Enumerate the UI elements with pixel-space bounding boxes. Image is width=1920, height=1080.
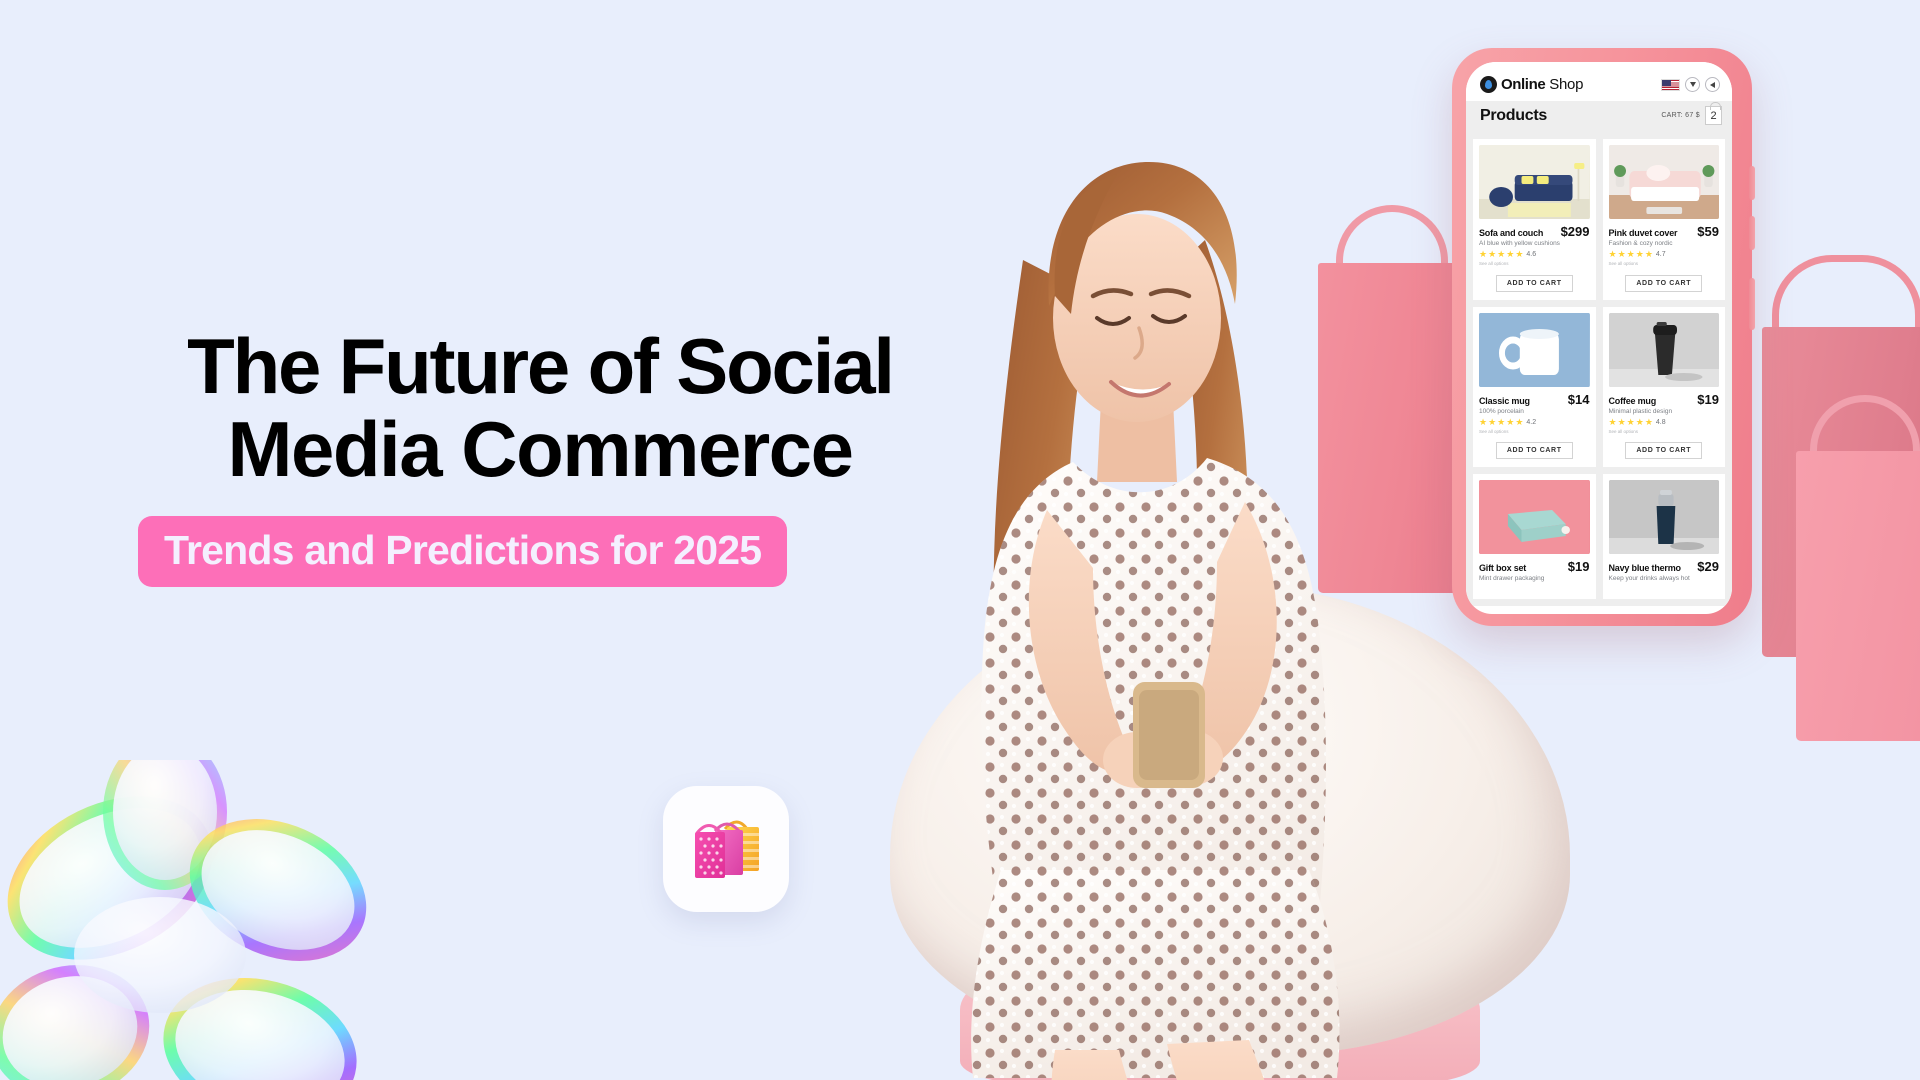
rating-value: 4.7 <box>1656 251 1666 258</box>
star-icon: ★ <box>1497 418 1505 427</box>
volume-up-button[interactable] <box>1749 166 1755 200</box>
product-desc: Fashion & cozy nordic <box>1609 240 1720 247</box>
product-rating: ★ ★ ★ ★ ★ 4.6 <box>1479 250 1590 259</box>
product-card[interactable]: Navy blue thermo $29 Keep your drinks al… <box>1603 474 1726 599</box>
product-image-sofa <box>1479 145 1590 219</box>
product-sublink[interactable]: See all options <box>1609 429 1720 434</box>
cart-total-label: CART: 67 $ <box>1661 112 1700 119</box>
add-to-cart-button[interactable]: ADD TO CART <box>1625 442 1702 459</box>
star-icon: ★ <box>1515 250 1523 259</box>
product-desc: Mint drawer packaging <box>1479 575 1590 582</box>
product-desc: Keep your drinks always hot <box>1609 575 1720 582</box>
product-image-mug <box>1479 313 1590 387</box>
brand-mark-icon <box>1480 76 1497 93</box>
star-icon: ★ <box>1609 418 1617 427</box>
star-icon: ★ <box>1609 250 1617 259</box>
star-icon: ★ <box>1636 250 1644 259</box>
product-price: $14 <box>1568 392 1590 407</box>
star-icon: ★ <box>1488 418 1496 427</box>
shopping-bags-app-icon[interactable] <box>663 786 789 912</box>
star-icon: ★ <box>1479 418 1487 427</box>
product-card[interactable]: Pink duvet cover $59 Fashion & cozy nord… <box>1603 139 1726 300</box>
phone-screen: Online Shop Products CART: 67 $ 2 <box>1466 62 1732 614</box>
phone-mockup: Online Shop Products CART: 67 $ 2 <box>1452 48 1752 626</box>
product-desc: AI blue with yellow cushions <box>1479 240 1590 247</box>
add-to-cart-button[interactable]: ADD TO CART <box>1496 442 1573 459</box>
product-desc: 100% porcelain <box>1479 408 1590 415</box>
subtitle-banner: Trends and Predictions for 2025 <box>138 516 787 587</box>
header-controls <box>1661 77 1720 92</box>
product-price: $59 <box>1697 224 1719 239</box>
power-button[interactable] <box>1749 278 1755 330</box>
product-image-gift-box <box>1479 480 1590 554</box>
product-desc: Minimal plastic design <box>1609 408 1720 415</box>
product-price: $299 <box>1561 224 1590 239</box>
product-sublink[interactable]: See all options <box>1479 261 1590 266</box>
star-icon: ★ <box>1645 250 1653 259</box>
product-sublink[interactable]: See all options <box>1479 429 1590 434</box>
product-price: $19 <box>1697 392 1719 407</box>
product-image-thermo <box>1609 480 1720 554</box>
product-card[interactable]: Sofa and couch $299 AI blue with yellow … <box>1473 139 1596 300</box>
droplet-icon <box>1485 80 1492 89</box>
rating-value: 4.2 <box>1526 419 1536 426</box>
product-name: Sofa and couch <box>1479 228 1543 238</box>
app-header: Online Shop <box>1466 62 1732 101</box>
star-icon: ★ <box>1618 418 1626 427</box>
product-card[interactable]: Gift box set $19 Mint drawer packaging <box>1473 474 1596 599</box>
headline-line-1: The Future of Social <box>130 325 950 408</box>
section-title: Products <box>1480 107 1547 125</box>
hero-text-block: The Future of Social Media Commerce Tren… <box>130 325 950 587</box>
brand-logo[interactable]: Online Shop <box>1480 76 1583 93</box>
star-icon: ★ <box>1645 418 1653 427</box>
cart-area[interactable]: CART: 67 $ 2 <box>1661 106 1722 125</box>
star-icon: ★ <box>1627 418 1635 427</box>
product-image-duvet <box>1609 145 1720 219</box>
product-name: Coffee mug <box>1609 396 1657 406</box>
star-icon: ★ <box>1497 250 1505 259</box>
star-icon: ★ <box>1506 418 1514 427</box>
product-rating: ★ ★ ★ ★ ★ 4.2 <box>1479 418 1590 427</box>
star-icon: ★ <box>1506 250 1514 259</box>
star-icon: ★ <box>1515 418 1523 427</box>
product-name: Navy blue thermo <box>1609 563 1681 573</box>
flag-canton <box>1662 80 1671 87</box>
chevron-down-icon[interactable] <box>1685 77 1700 92</box>
add-to-cart-button[interactable]: ADD TO CART <box>1496 275 1573 292</box>
brand-name-bold: Online <box>1501 76 1545 93</box>
star-icon: ★ <box>1618 250 1626 259</box>
product-name: Classic mug <box>1479 396 1530 406</box>
product-name: Pink duvet cover <box>1609 228 1678 238</box>
star-icon: ★ <box>1636 418 1644 427</box>
volume-down-button[interactable] <box>1749 216 1755 250</box>
us-flag-icon[interactable] <box>1661 79 1680 91</box>
product-card[interactable]: Coffee mug $19 Minimal plastic design ★ … <box>1603 307 1726 468</box>
product-name: Gift box set <box>1479 563 1526 573</box>
product-rating: ★ ★ ★ ★ ★ 4.8 <box>1609 418 1720 427</box>
chevron-left-icon[interactable] <box>1705 77 1720 92</box>
product-price: $29 <box>1697 559 1719 574</box>
products-bar: Products CART: 67 $ 2 <box>1466 101 1732 132</box>
star-icon: ★ <box>1488 250 1496 259</box>
subtitle-text: Trends and Predictions for 2025 <box>164 527 761 573</box>
brand-name-light: Shop <box>1549 76 1583 93</box>
page-title: The Future of Social Media Commerce <box>130 325 950 490</box>
product-price: $19 <box>1568 559 1590 574</box>
cart-count-badge[interactable]: 2 <box>1705 106 1722 125</box>
product-sublink[interactable]: See all options <box>1609 261 1720 266</box>
product-grid: Sofa and couch $299 AI blue with yellow … <box>1466 132 1732 606</box>
rating-value: 4.8 <box>1656 419 1666 426</box>
headline-line-2: Media Commerce <box>130 408 950 491</box>
woman-with-phone <box>905 110 1465 1080</box>
product-image-coffee-cup <box>1609 313 1720 387</box>
star-icon: ★ <box>1627 250 1635 259</box>
add-to-cart-button[interactable]: ADD TO CART <box>1625 275 1702 292</box>
rating-value: 4.6 <box>1526 251 1536 258</box>
product-rating: ★ ★ ★ ★ ★ 4.7 <box>1609 250 1720 259</box>
star-icon: ★ <box>1479 250 1487 259</box>
product-card[interactable]: Classic mug $14 100% porcelain ★ ★ ★ ★ ★… <box>1473 307 1596 468</box>
